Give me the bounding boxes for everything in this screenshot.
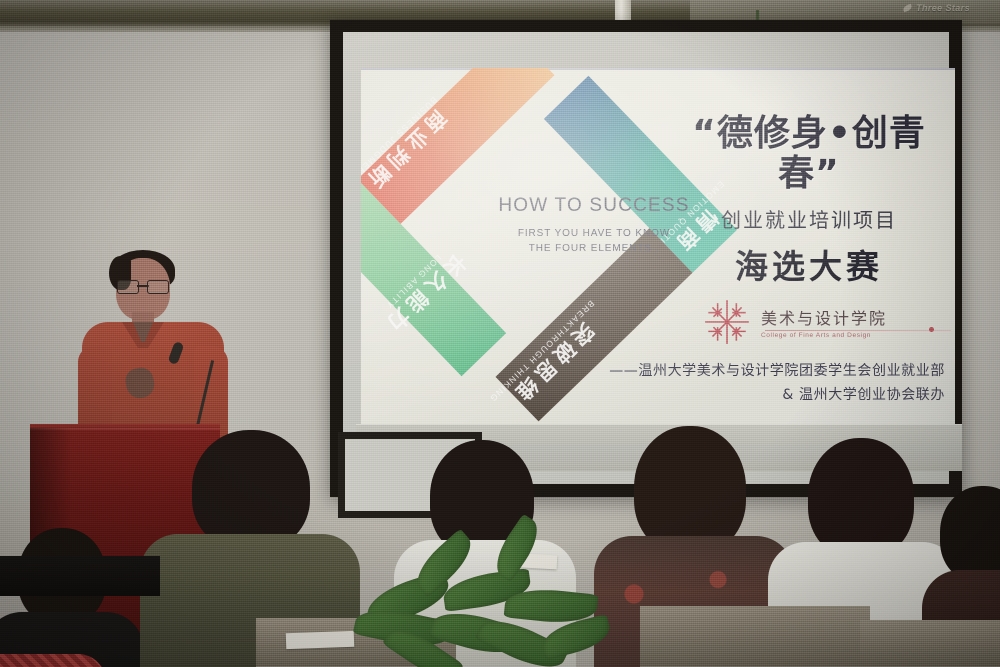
whiteboard-surface: 情商 EMOTION QUOTIENT 突破思维 BREAKTHROUGH TH…	[343, 32, 949, 484]
credit-line-1: ——温州大学美术与设计学院团委学生会创业就业部	[385, 360, 945, 380]
element-bar-label: 商业判断 BUSINESS JUDGMENT	[361, 95, 455, 198]
college-logo-block: 美术与设计学院 College of Fine Arts and Design	[701, 296, 951, 348]
watermark-text: Three Stars	[916, 3, 970, 13]
table	[860, 620, 1000, 667]
glasses-icon	[117, 280, 169, 292]
sub-line-1: FIRST YOU HAVE TO KNOW	[518, 228, 670, 239]
table	[640, 606, 870, 667]
slide-credits: ——温州大学美术与设计学院团委学生会创业就业部 & 温州大学创业协会联办	[385, 360, 945, 404]
logo-name-cn: 美术与设计学院	[761, 305, 887, 329]
sub-line-2: THE FOUR ELEMENTS .	[529, 243, 659, 254]
leaf-icon	[902, 4, 912, 12]
snowflake-logo-icon	[701, 296, 753, 348]
audience-head	[808, 438, 914, 558]
logo-text: 美术与设计学院 College of Fine Arts and Design	[761, 305, 887, 339]
slide-title-quoted: “德修身•创青春”	[673, 114, 945, 195]
logo-dot	[929, 327, 934, 332]
slide-subtitle: 创业就业培训项目	[673, 204, 945, 233]
logo-underline	[765, 330, 951, 331]
photo-watermark: Three Stars	[903, 3, 970, 13]
slide-top-rule	[361, 68, 955, 70]
projected-slide: 情商 EMOTION QUOTIENT 突破思维 BREAKTHROUGH TH…	[361, 68, 955, 464]
slide-headline: 海选大赛	[673, 240, 945, 288]
potted-plant	[355, 520, 605, 667]
element-bar-label: 长久能力 LONG ABILITY	[373, 242, 470, 337]
logo-name-en: College of Fine Arts and Design	[761, 332, 887, 339]
audience-patterned-top	[0, 654, 106, 667]
audience-member	[0, 528, 140, 667]
paper-sheet	[286, 631, 355, 649]
audience-head	[634, 426, 746, 554]
credit-line-2: & 温州大学创业协会联办	[385, 384, 945, 404]
audience-head	[940, 486, 1000, 582]
photo-scene: 情商 EMOTION QUOTIENT 突破思维 BREAKTHROUGH TH…	[0, 0, 1000, 667]
audience-head	[192, 430, 310, 550]
slide-title-block: “德修身•创青春” 创业就业培训项目 海选大赛	[673, 114, 945, 288]
front-desk-shadow	[0, 556, 160, 596]
